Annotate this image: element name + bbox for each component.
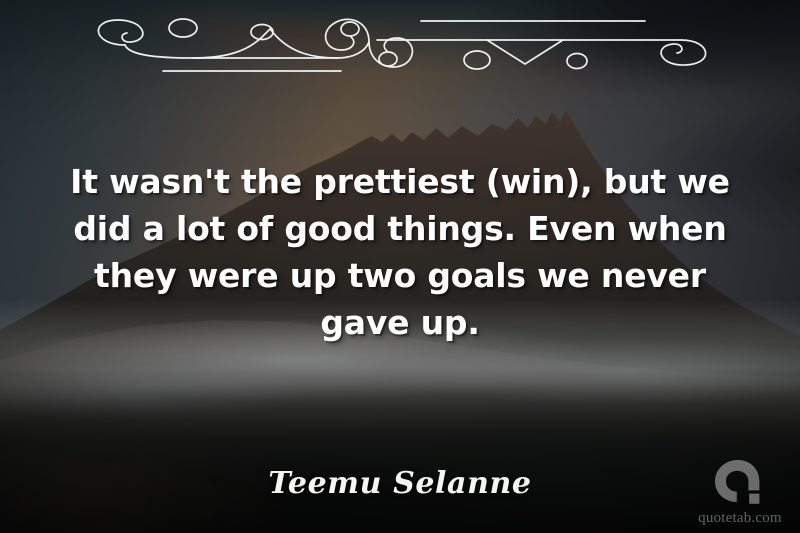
- author-name: Teemu Selanne: [0, 466, 800, 501]
- quote-line: did a lot of good things. Even when: [52, 205, 748, 252]
- decorative-flourish-icon: [85, 12, 715, 74]
- quote-text: It wasn't the prettiest (win), but we di…: [52, 158, 748, 346]
- quotetab-q-logo-icon: [712, 457, 768, 509]
- quote-line: they were up two goals we never: [52, 252, 748, 299]
- quote-line: gave up.: [52, 299, 748, 346]
- watermark-label: quotetab.com: [698, 510, 782, 527]
- quote-image-card: It wasn't the prettiest (win), but we di…: [0, 0, 800, 533]
- watermark[interactable]: quotetab.com: [692, 457, 788, 527]
- quote-line: It wasn't the prettiest (win), but we: [52, 158, 748, 205]
